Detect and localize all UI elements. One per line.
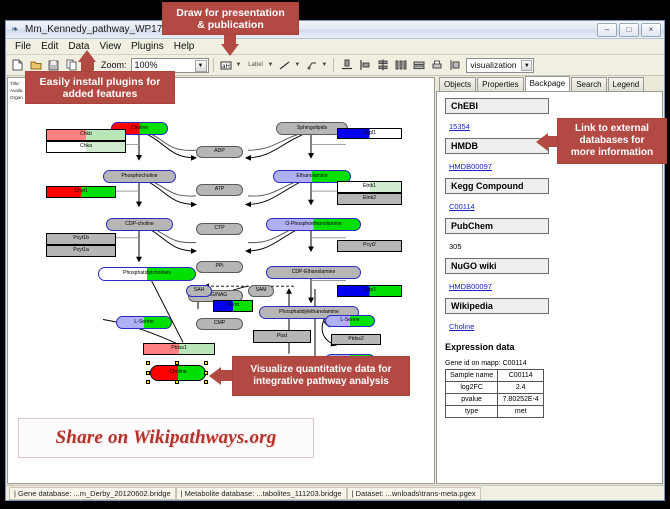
callout-visualize: Visualize quantitative data for integrat…: [232, 356, 410, 396]
align-left-icon[interactable]: [356, 57, 373, 74]
gene-pcyt1a[interactable]: Pcyt1a: [46, 245, 116, 257]
db-header-wikipedia: Wikipedia: [445, 298, 549, 314]
cell-val-sample-name: C00114: [498, 370, 544, 382]
side-panel-tabs: Objects Properties Backpage Search Legen…: [436, 77, 663, 91]
gene-pisd[interactable]: Pisd: [253, 330, 311, 343]
status-bar: | Gene database: ...m_Derby_20120602.bri…: [6, 485, 664, 500]
cell-val-type: met: [498, 406, 544, 418]
callout-draw: Draw for presentation & publication: [162, 2, 299, 35]
cell-key-pvalue: pvalue: [446, 394, 498, 406]
pathway-available-label: Availa: [10, 87, 23, 94]
selection-handle-sw[interactable]: [146, 380, 150, 384]
window-controls: – □ ×: [597, 23, 661, 37]
tab-search[interactable]: Search: [571, 77, 606, 91]
callout-draw-arrow: [221, 44, 239, 56]
db-link-hmdb[interactable]: HMDB00097: [449, 162, 492, 171]
selection-handle-n[interactable]: [175, 361, 179, 365]
callout-links-arrow: [536, 133, 548, 151]
node-cdp-ethanolamine[interactable]: CDP-Ethanolamine: [266, 266, 361, 279]
table-row: type met: [446, 406, 544, 418]
align-bottom-icon[interactable]: [338, 57, 355, 74]
toolbar-separator-2: [333, 58, 334, 72]
callout-visualize-stem: [221, 370, 232, 381]
callout-plugins-line2: added features: [63, 88, 138, 100]
interaction-icon[interactable]: [303, 57, 320, 74]
distribute-icon[interactable]: [392, 57, 409, 74]
node-sah[interactable]: SAH: [186, 285, 212, 297]
minimize-button[interactable]: –: [597, 23, 617, 37]
node-cmp[interactable]: CMP: [196, 318, 243, 330]
callout-links-line1: Link to external: [575, 123, 649, 135]
new-document-icon[interactable]: [9, 57, 26, 74]
line-icon[interactable]: [276, 57, 293, 74]
pathway-info-block: Title: Availa Organ: [10, 80, 23, 101]
status-dataset: | Dataset: ...wnloads\trans-meta.pgex: [347, 487, 481, 500]
node-cdp-choline[interactable]: CDP-choline: [106, 218, 173, 231]
common-height-icon[interactable]: [446, 57, 463, 74]
line-dropdown-icon[interactable]: ▼: [294, 62, 300, 68]
db-header-pubchem: PubChem: [445, 218, 549, 234]
visualization-combobox[interactable]: visualization ▼: [466, 58, 534, 73]
gene-etnk2[interactable]: Etnk2: [337, 193, 402, 205]
db-link-wikipedia[interactable]: Choline: [449, 322, 474, 331]
cell-val-log2fc: 2.4: [498, 382, 544, 394]
gene-cept1[interactable]: Cept1: [337, 285, 402, 297]
datanode-dropdown-icon[interactable]: ▼: [236, 62, 242, 68]
tab-backpage[interactable]: Backpage: [525, 76, 571, 91]
menu-bar: File Edit Data View Plugins Help: [6, 39, 664, 55]
db-link-chebi[interactable]: 15354: [449, 122, 470, 131]
gene-etnk1[interactable]: Etnk1: [337, 181, 402, 193]
print-icon[interactable]: [428, 57, 445, 74]
db-header-kegg: Kegg Compound: [445, 178, 549, 194]
gene-id-on-mapp: Gene id on mapp: C00114: [445, 360, 658, 367]
gene-chka[interactable]: Chka: [46, 141, 126, 153]
expression-table: Sample name C00114 log2FC 2.4 pvalue 7.8…: [445, 369, 544, 418]
gene-chpt1[interactable]: Chpt1: [46, 186, 116, 198]
callout-plugins-stem: [81, 62, 93, 71]
datanode-icon[interactable]: aH: [218, 57, 235, 74]
common-width-icon[interactable]: [410, 57, 427, 74]
node-sam[interactable]: SAM: [248, 285, 274, 297]
gene-pcyt2[interactable]: Pcyt2: [337, 240, 402, 252]
menu-item-help[interactable]: Help: [169, 40, 200, 53]
cell-key-sample-name: Sample name: [446, 370, 498, 382]
callout-plugins: Easily install plugins for added feature…: [25, 71, 175, 104]
selection-handle-se[interactable]: [204, 380, 208, 384]
chevron-down-icon[interactable]: ▼: [195, 60, 207, 72]
callout-links-line3: more information: [571, 147, 653, 159]
status-gene-database: | Gene database: ...m_Derby_20120602.bri…: [9, 487, 176, 500]
toolbar-separator: [213, 58, 214, 72]
table-row: pvalue 7.80252E-4: [446, 394, 544, 406]
menu-item-plugins[interactable]: Plugins: [126, 40, 169, 53]
menu-item-edit[interactable]: Edit: [36, 40, 63, 53]
cell-key-log2fc: log2FC: [446, 382, 498, 394]
visualization-value: visualization: [470, 60, 516, 70]
db-link-kegg[interactable]: C00114: [449, 202, 475, 211]
node-ctp[interactable]: CTP: [196, 223, 243, 235]
node-phosphocholine[interactable]: Phosphocholine: [103, 170, 176, 183]
db-header-hmdb: HMDB: [445, 138, 549, 154]
callout-draw-line1: Draw for presentation: [176, 7, 285, 19]
callout-visualize-line2: integrative pathway analysis: [253, 376, 389, 388]
node-o-phosphoethanolamine[interactable]: O-Phosphoethanolamine: [266, 218, 361, 231]
node-l-serine-right[interactable]: L-Serine: [325, 315, 375, 327]
selection-handle-e[interactable]: [204, 371, 208, 375]
table-row: Sample name C00114: [446, 370, 544, 382]
node-ppi[interactable]: PPi: [196, 261, 243, 273]
pathway-organism-label: Organ: [10, 94, 23, 101]
zoom-value: 100%: [135, 60, 158, 70]
tab-properties[interactable]: Properties: [477, 77, 523, 91]
callout-share: Share on Wikipathways.org: [18, 418, 314, 458]
label-dropdown-icon[interactable]: ▼: [267, 62, 273, 68]
node-atp[interactable]: ATP: [196, 184, 243, 196]
cell-val-pvalue: 7.80252E-4: [498, 394, 544, 406]
interaction-dropdown-icon[interactable]: ▼: [321, 62, 327, 68]
callout-visualize-arrow: [209, 367, 221, 385]
node-phosphatidylcholines[interactable]: Phosphatidylcholines: [98, 267, 196, 281]
node-l-serine-left[interactable]: L-Serine: [116, 316, 172, 329]
gene-ptdss2[interactable]: Ptdss2: [331, 334, 381, 345]
maximize-button[interactable]: □: [619, 23, 639, 37]
db-header-nugo: NuGO wiki: [445, 258, 549, 274]
zoom-label: Zoom:: [101, 60, 127, 70]
selection-handle-s[interactable]: [175, 380, 179, 384]
close-button[interactable]: ×: [641, 23, 661, 37]
gene-chkb[interactable]: Chkb: [46, 129, 126, 141]
menu-item-view[interactable]: View: [94, 40, 126, 53]
selection-handle-ne[interactable]: [204, 361, 208, 365]
chevron-down-icon-2[interactable]: ▼: [521, 60, 532, 71]
cell-key-type: type: [446, 406, 498, 418]
db-header-chebi: ChEBI: [445, 98, 549, 114]
gene-pcyt1b[interactable]: Pcyt1b: [46, 233, 116, 245]
node-adp[interactable]: ADP: [196, 146, 243, 158]
table-row: log2FC 2.4: [446, 382, 544, 394]
label-tool-button[interactable]: Label: [244, 57, 266, 74]
gene-ptdss1[interactable]: Ptdss1: [143, 343, 215, 355]
status-metabolite-database: | Metabolite database: ...tabolites_1112…: [176, 487, 347, 500]
node-choline-bottom-selected[interactable]: Choline: [150, 365, 206, 381]
callout-share-text: Share on Wikipathways.org: [56, 427, 277, 449]
title-bar: ❧ Mm_Kennedy_pathway_WP1771_45176.gpml –…: [6, 21, 664, 39]
callout-links: Link to external databases for more info…: [557, 118, 667, 164]
callout-plugins-arrow: [78, 50, 96, 62]
pathway-title-label: Title:: [10, 80, 23, 87]
callout-visualize-line1: Visualize quantitative data for: [251, 364, 392, 376]
callout-draw-line2: & publication: [197, 19, 264, 31]
svg-text:aH: aH: [222, 64, 230, 70]
stack-center-icon[interactable]: [374, 57, 391, 74]
db-link-nugo[interactable]: HMDB00097: [449, 282, 492, 291]
tab-objects[interactable]: Objects: [439, 77, 476, 91]
pathvisio-icon: ❧: [9, 24, 21, 36]
callout-links-line2: databases for: [579, 135, 644, 147]
selection-handle-nw[interactable]: [146, 361, 150, 365]
db-value-pubchem: 305: [449, 242, 462, 251]
tab-legend[interactable]: Legend: [608, 77, 645, 91]
gene-sgpl1[interactable]: Sgpl1: [337, 128, 402, 139]
callout-draw-stem: [224, 35, 236, 44]
expression-data-title: Expression data: [445, 342, 658, 352]
gene-pemt[interactable]: Pemt: [213, 300, 253, 312]
menu-item-file[interactable]: File: [10, 40, 36, 53]
callout-plugins-line1: Easily install plugins for: [40, 76, 161, 88]
selection-handle-w[interactable]: [146, 371, 150, 375]
